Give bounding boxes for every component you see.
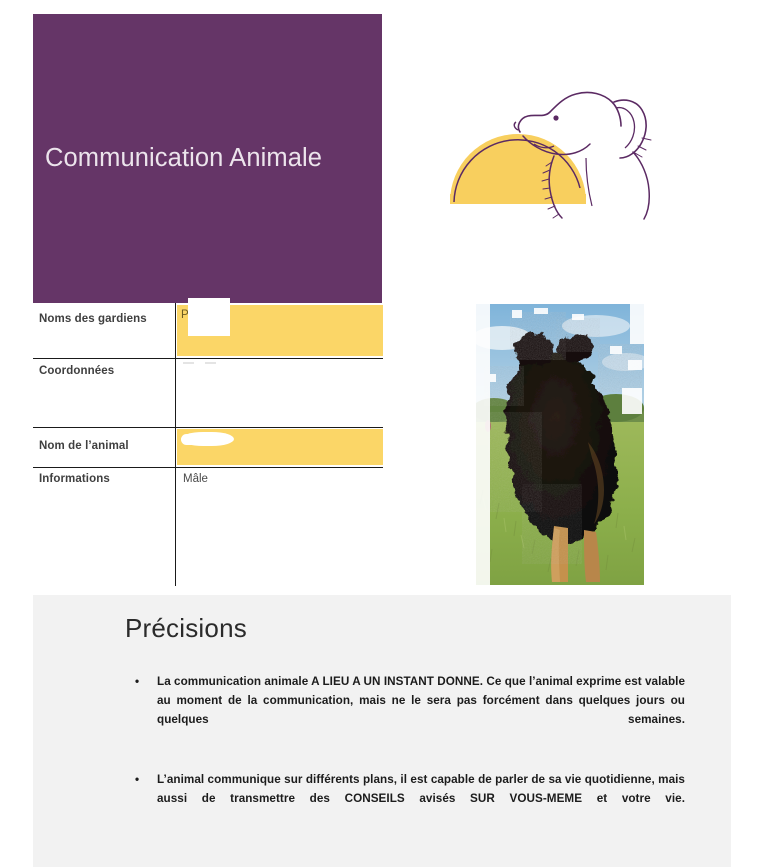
- document-page: Communication Animale: [0, 0, 770, 867]
- table-column-divider: [175, 303, 176, 586]
- dog-photograph: [476, 304, 644, 585]
- redaction-blank-animal-name-2: [181, 434, 227, 445]
- table-label-coordonnees: Coordonnées: [39, 365, 114, 377]
- list-item: • L’animal communique sur différents pla…: [125, 771, 685, 828]
- table-value-informations: Mâle: [183, 473, 208, 485]
- table-label-guardians: Noms des gardiens: [39, 313, 147, 325]
- redaction-residue-coordonnees: [183, 360, 383, 367]
- list-item-text: La communication animale A LIEU A UN INS…: [157, 673, 685, 749]
- precisions-panel: Précisions • La communication animale A …: [33, 595, 731, 867]
- page-title: Communication Animale: [33, 144, 322, 173]
- table-row-divider: [33, 427, 383, 428]
- bullet-glyph: •: [135, 673, 139, 692]
- dog-head-logo: [428, 66, 692, 224]
- list-item: • La communication animale A LIEU A UN I…: [125, 673, 685, 749]
- table-label-informations: Informations: [39, 473, 110, 485]
- list-item-text: L’animal communique sur différents plans…: [157, 771, 685, 828]
- table-row-divider: [33, 467, 383, 468]
- precisions-bullet-list: • La communication animale A LIEU A UN I…: [125, 673, 685, 850]
- table-label-animal-name: Nom de l’animal: [39, 440, 129, 452]
- title-banner: Communication Animale: [33, 14, 382, 303]
- animal-info-table: P Noms des gardiens Coordonnées Nom de l…: [33, 303, 383, 586]
- table-row-divider: [33, 358, 383, 359]
- redaction-blank-guardians: [188, 298, 230, 336]
- bullet-glyph: •: [135, 771, 139, 790]
- precisions-heading: Précisions: [125, 613, 247, 644]
